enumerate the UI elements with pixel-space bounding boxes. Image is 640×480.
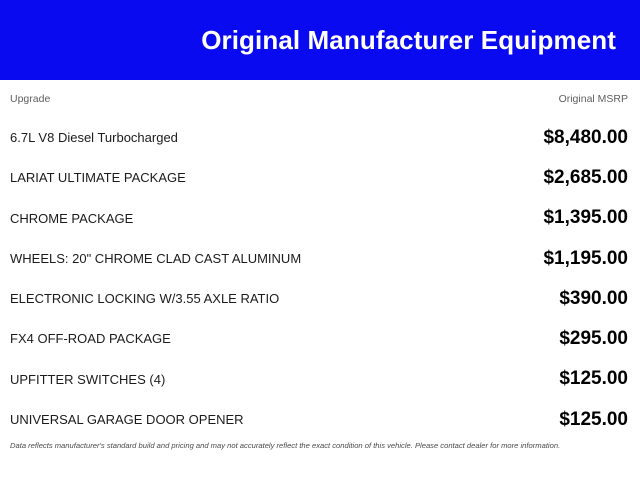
table-row: WHEELS: 20" CHROME CLAD CAST ALUMINUM$1,… bbox=[10, 239, 628, 279]
equipment-name: UNIVERSAL GARAGE DOOR OPENER bbox=[10, 413, 254, 427]
equipment-price: $8,480.00 bbox=[543, 128, 628, 149]
equipment-price: $1,395.00 bbox=[543, 208, 628, 229]
table-row: ELECTRONIC LOCKING W/3.55 AXLE RATIO$390… bbox=[10, 279, 628, 319]
equipment-name: UPFITTER SWITCHES (4) bbox=[10, 373, 175, 387]
page-title: Original Manufacturer Equipment bbox=[201, 27, 616, 53]
equipment-page: Original Manufacturer Equipment Upgrade … bbox=[0, 0, 640, 480]
equipment-name: ELECTRONIC LOCKING W/3.55 AXLE RATIO bbox=[10, 292, 289, 306]
equipment-price: $125.00 bbox=[559, 369, 628, 390]
table-row: LARIAT ULTIMATE PACKAGE$2,685.00 bbox=[10, 158, 628, 198]
table-row: 6.7L V8 Diesel Turbocharged$8,480.00 bbox=[10, 118, 628, 158]
table-row: FX4 OFF-ROAD PACKAGE$295.00 bbox=[10, 319, 628, 359]
disclaimer-text: Data reflects manufacturer's standard bu… bbox=[10, 441, 630, 450]
equipment-name: FX4 OFF-ROAD PACKAGE bbox=[10, 332, 181, 346]
equipment-name: CHROME PACKAGE bbox=[10, 212, 143, 226]
equipment-price: $390.00 bbox=[559, 289, 628, 310]
page-banner: Original Manufacturer Equipment bbox=[0, 0, 640, 80]
equipment-price: $125.00 bbox=[559, 410, 628, 431]
table-row: UNIVERSAL GARAGE DOOR OPENER$125.00 bbox=[10, 400, 628, 440]
column-header-upgrade: Upgrade bbox=[10, 94, 50, 105]
equipment-name: 6.7L V8 Diesel Turbocharged bbox=[10, 131, 188, 145]
table-row: UPFITTER SWITCHES (4)$125.00 bbox=[10, 360, 628, 400]
equipment-price: $1,195.00 bbox=[543, 249, 628, 270]
equipment-name: WHEELS: 20" CHROME CLAD CAST ALUMINUM bbox=[10, 252, 311, 266]
table-rows: 6.7L V8 Diesel Turbocharged$8,480.00LARI… bbox=[10, 118, 628, 440]
footer-whitespace bbox=[0, 458, 640, 480]
equipment-table: Upgrade Original MSRP 6.7L V8 Diesel Tur… bbox=[0, 80, 640, 440]
equipment-name: LARIAT ULTIMATE PACKAGE bbox=[10, 171, 196, 185]
table-row: CHROME PACKAGE$1,395.00 bbox=[10, 199, 628, 239]
equipment-price: $295.00 bbox=[559, 329, 628, 350]
table-header-row: Upgrade Original MSRP bbox=[10, 80, 628, 118]
equipment-price: $2,685.00 bbox=[543, 168, 628, 189]
column-header-original-msrp: Original MSRP bbox=[559, 94, 628, 105]
